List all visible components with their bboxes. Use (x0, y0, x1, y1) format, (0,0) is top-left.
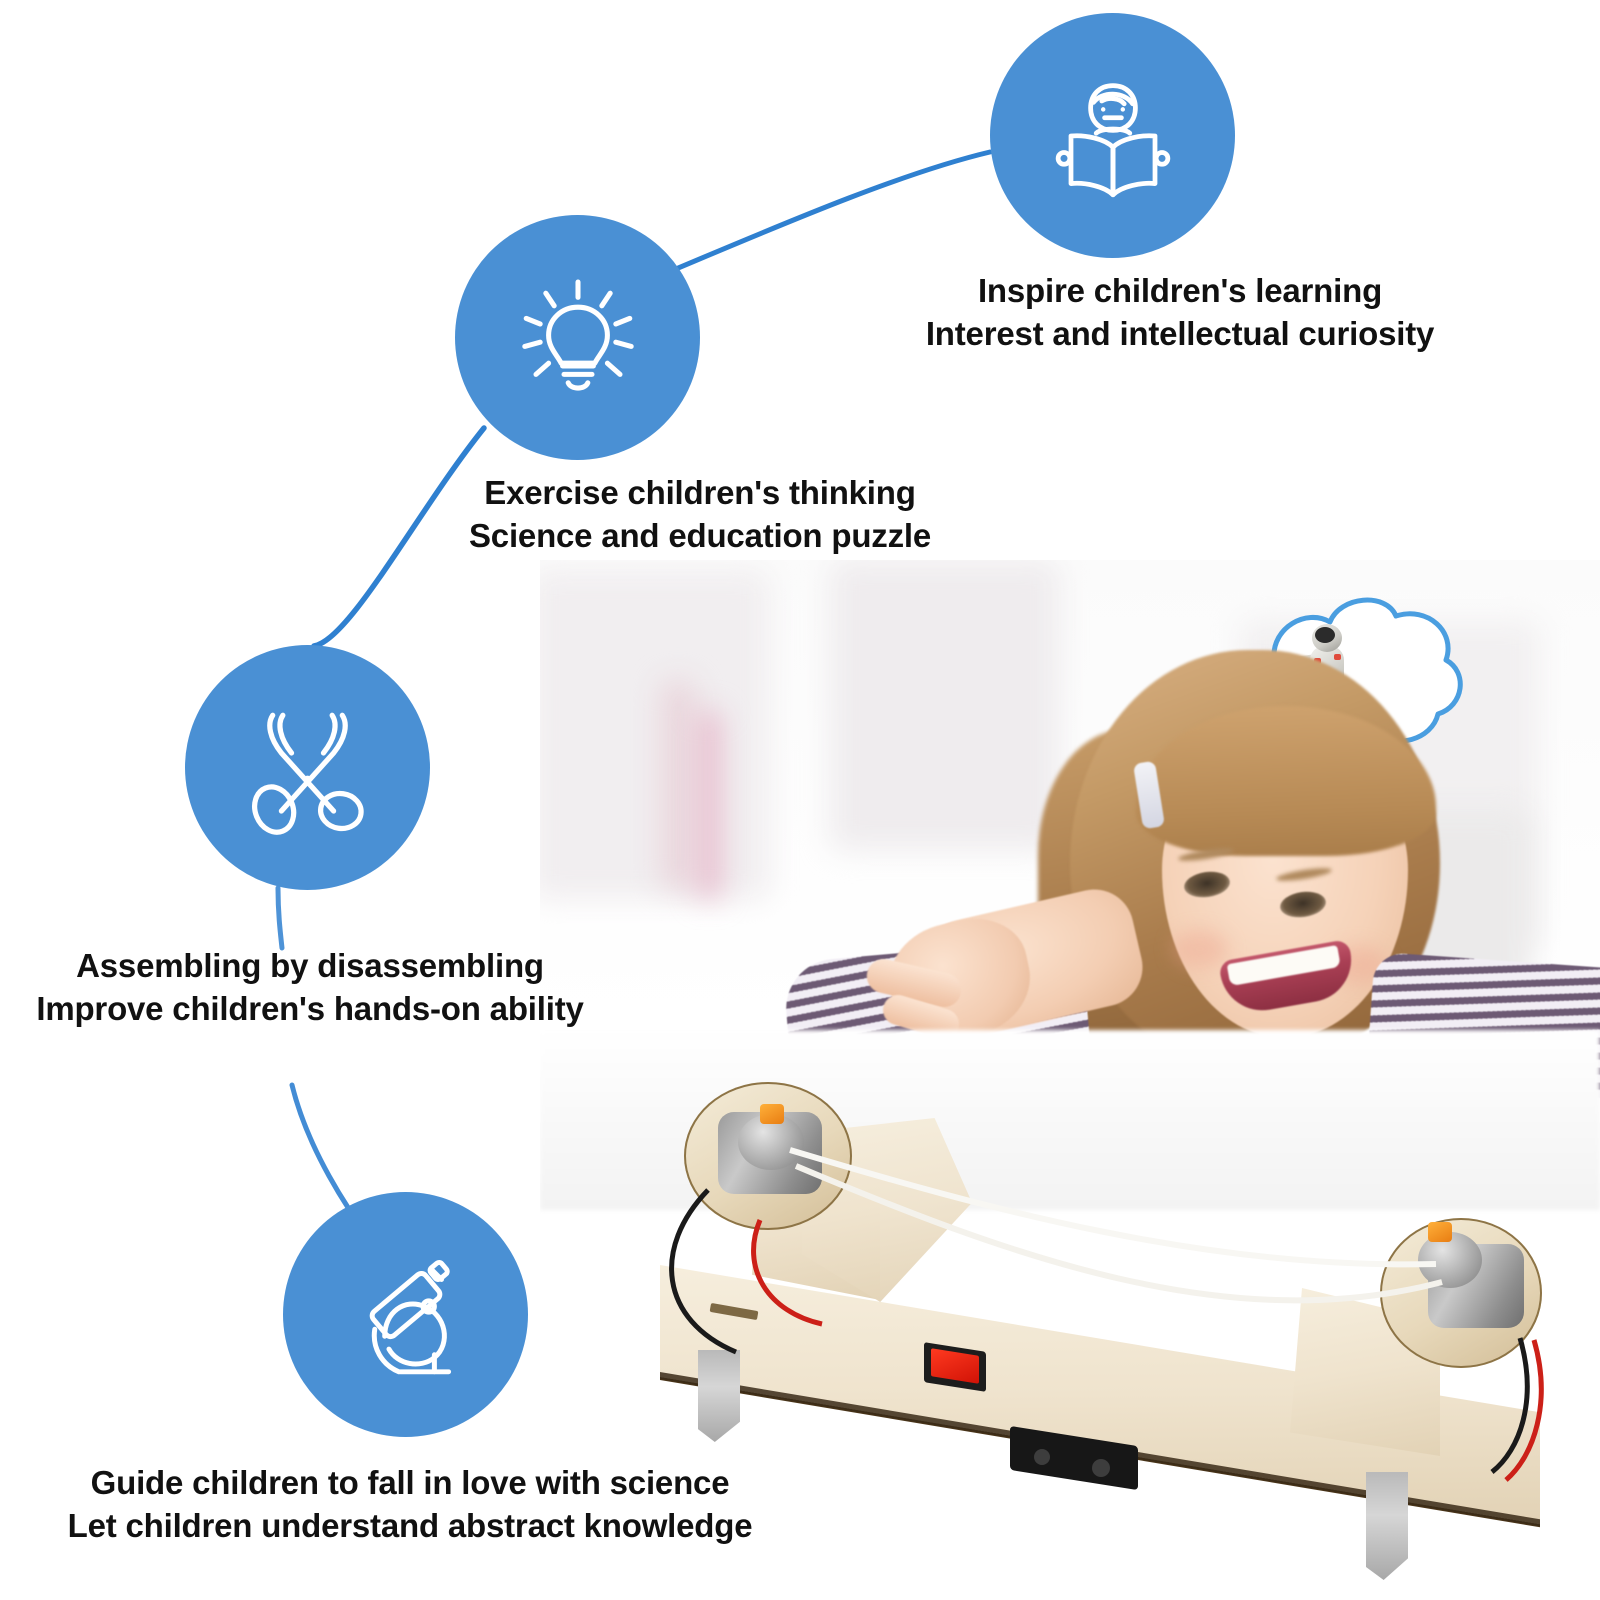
caption-line-2: Improve children's hands-on ability (20, 988, 600, 1031)
wire-red-left (754, 1220, 822, 1324)
feature-caption-assembling: Assembling by disassembling Improve chil… (20, 945, 600, 1031)
wire-black-left (672, 1190, 736, 1352)
feature-circle-science[interactable] (283, 1192, 528, 1437)
lightbulb-icon (508, 268, 648, 408)
scissors-icon (235, 695, 380, 840)
caption-line-1: Guide children to fall in love with scie… (20, 1462, 800, 1505)
feature-caption-science: Guide children to fall in love with scie… (20, 1462, 800, 1548)
feature-caption-reading: Inspire children's learning Interest and… (900, 270, 1460, 356)
caption-line-2: Science and education puzzle (430, 515, 970, 558)
feature-circle-reading[interactable] (990, 13, 1235, 258)
background-prop-pencils (660, 680, 696, 890)
battery-box-screw (1034, 1449, 1050, 1465)
caption-line-1: Inspire children's learning (900, 270, 1460, 313)
infographic-canvas: Inspire children's learning Interest and… (0, 0, 1600, 1600)
caption-line-2: Let children understand abstract knowled… (20, 1505, 800, 1548)
child-reading-book-icon (1043, 66, 1183, 206)
wire-black-right (1492, 1338, 1527, 1472)
feature-circle-thinking[interactable] (455, 215, 700, 460)
cheek (1172, 930, 1228, 968)
background-prop-pencil-pink (698, 710, 720, 900)
feature-caption-thinking: Exercise children's thinking Science and… (430, 472, 970, 558)
feature-circle-assembling[interactable] (185, 645, 430, 890)
microscope-icon (335, 1244, 477, 1386)
background-prop-shelf (540, 570, 770, 900)
connector-assembling-stub (278, 888, 282, 948)
battery-box-jack (1092, 1459, 1110, 1477)
drive-belt-upper (790, 1150, 1436, 1264)
caption-line-1: Exercise children's thinking (430, 472, 970, 515)
caption-line-1: Assembling by disassembling (20, 945, 600, 988)
caption-line-2: Interest and intellectual curiosity (900, 313, 1460, 356)
